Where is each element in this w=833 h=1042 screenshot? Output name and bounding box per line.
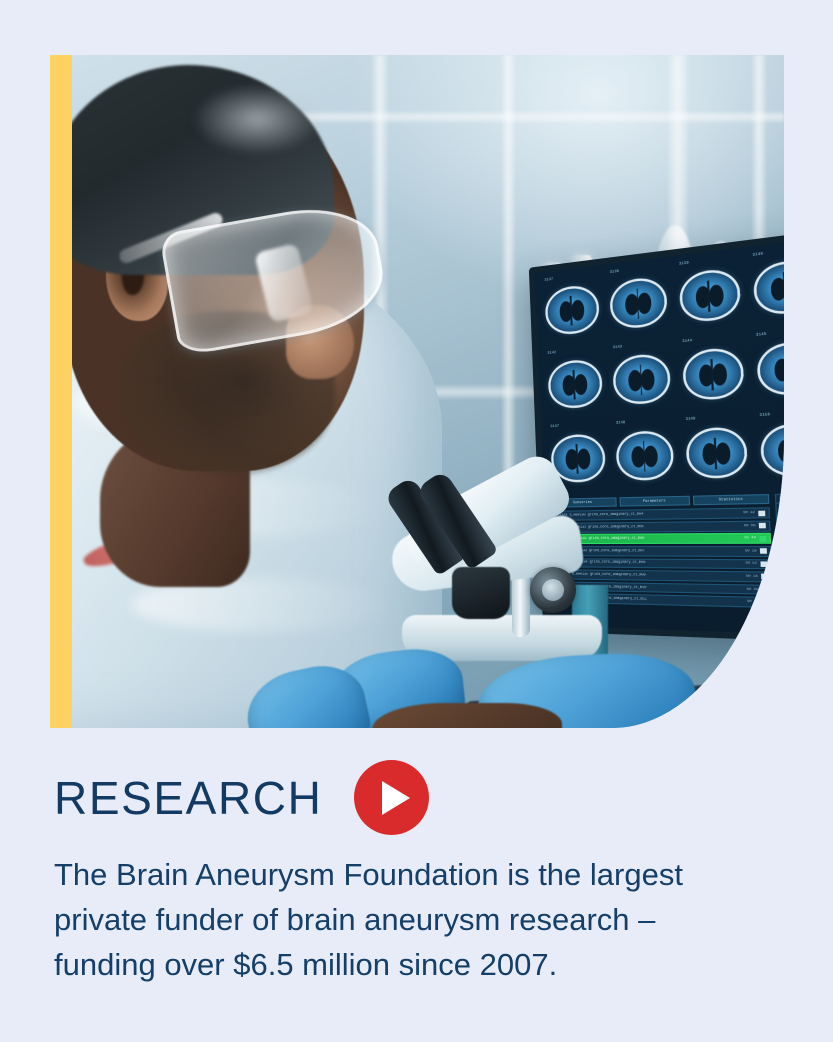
scan-slice-label: 3149	[686, 417, 696, 422]
monitor-tabs: SubseriesParametersStatistics	[549, 494, 769, 508]
series-row-status-swatch	[759, 523, 766, 529]
shelf-row-icon	[302, 111, 784, 123]
brain-scan-cell: 3150	[755, 409, 784, 488]
microscope-objective-lens	[452, 567, 510, 619]
series-row-status-swatch	[761, 574, 768, 580]
series-row-status-swatch	[759, 536, 766, 542]
brain-scan-grid: 3137313831393140314131423143314431453146…	[541, 234, 784, 492]
series-row-status-swatch	[758, 510, 765, 516]
brain-slice-icon	[615, 356, 669, 404]
monitor-tab: Statistics	[693, 494, 769, 505]
brain-slice-icon	[553, 436, 604, 481]
series-row-value: 60 08	[744, 524, 756, 528]
brain-scan-cell: 3137	[541, 271, 604, 346]
brain-slice-icon	[685, 350, 742, 399]
series-row-value: 60 10	[747, 600, 759, 605]
detection-panel: REF 1047.034 Auto SelectionClusterResolu…	[775, 491, 784, 615]
panel-tabs: Auto SelectionClusterResolution	[779, 504, 784, 516]
brain-slice-icon	[681, 270, 738, 321]
series-row-value: 60 36	[747, 587, 759, 592]
series-row-name: Patient s_000131 grind_cord_imaginary_ct…	[554, 524, 740, 530]
scan-slice-label: 3150	[760, 413, 771, 418]
series-row: Patient s_000134 grind_cord_imaginary_ct…	[552, 558, 773, 570]
brain-scan-cell: 3138	[606, 263, 673, 341]
title-row: RESEARCH	[54, 760, 429, 835]
auto-detection-title: Auto Detection	[777, 517, 784, 530]
series-row-status-swatch	[760, 561, 767, 567]
scan-slice-label: 3143	[613, 345, 623, 350]
series-row-status-swatch	[760, 549, 767, 555]
brain-scan-cell: 3149	[681, 413, 752, 489]
page-title: RESEARCH	[54, 775, 322, 821]
series-row: Patient s_000131 grind_cord_imaginary_ct…	[550, 520, 770, 532]
brain-scan-cell: 3143	[609, 340, 676, 416]
brain-slice-icon	[550, 361, 601, 407]
scan-slice-label: 3145	[756, 333, 767, 339]
series-row-name: Patient s_000130 grind_cord_imaginary_ct…	[554, 511, 740, 518]
brain-scan-cell: 3142	[544, 346, 607, 419]
series-id: REF 1047.034	[780, 496, 784, 501]
monitor-tab: Parameters	[619, 496, 690, 507]
body-paragraph: The Brain Aneurysm Foundation is the lar…	[54, 852, 754, 987]
field-oversampling: Phase oversampling 50%	[780, 593, 784, 604]
brain-slice-icon	[688, 429, 745, 477]
series-row-value: 60 18	[745, 549, 757, 553]
brain-scan-cell: 3148	[612, 417, 679, 491]
scan-slice-label: 3142	[547, 351, 556, 356]
series-row: Patient s_000130 grind_cord_imaginary_ct…	[550, 507, 770, 520]
scan-slice-label: 3138	[610, 270, 620, 276]
hair-highlight	[192, 83, 322, 155]
scan-slice-label: 3140	[753, 252, 764, 258]
scan-slice-label: 3147	[550, 425, 559, 430]
series-row-status-swatch	[762, 587, 769, 593]
panel-header: REF 1047.034	[776, 492, 784, 504]
brain-scan-cell: 3140	[748, 244, 784, 327]
series-row: Patient s_000133 grind_cord_imaginary_ct…	[551, 546, 771, 557]
series-row-value: 60 18	[746, 574, 758, 579]
series-row-name: Patient s_000134 grind_cord_imaginary_ct…	[556, 561, 743, 567]
option-enhanced: Enhanced	[778, 538, 784, 547]
scan-slice-label: 3148	[616, 421, 626, 426]
media-block: 3137313831393140314131423143314431453146…	[50, 55, 784, 728]
brain-scan-cell: 3144	[678, 333, 749, 411]
play-video-button[interactable]	[354, 760, 429, 835]
series-row-value: 60 32	[743, 511, 755, 516]
series-row-name: Patient s_000132 grind_cord_imaginary_ct…	[555, 536, 741, 541]
microscope-focus-knob-center	[542, 579, 564, 601]
series-row-status-swatch	[762, 600, 769, 606]
scan-slice-label: 3139	[679, 261, 689, 267]
play-icon	[382, 781, 410, 815]
option-general: General	[778, 529, 784, 539]
brain-slice-icon	[547, 286, 597, 334]
scan-slice-label: 3137	[544, 278, 553, 283]
brain-slice-icon	[612, 279, 666, 328]
monitor-tab: Auto Selection	[779, 506, 784, 517]
series-row-name: Patient s_000135 grind_cord_imaginary_ct…	[556, 572, 743, 579]
brain-scan-cell: 3139	[675, 254, 746, 334]
brain-slice-icon	[755, 261, 784, 314]
brain-scan-cell: 3145	[751, 327, 784, 408]
brain-slice-icon	[759, 343, 784, 394]
scan-slice-label: 3144	[682, 339, 692, 345]
series-row-value: 61 44	[744, 536, 756, 540]
brain-slice-icon	[762, 425, 784, 474]
series-row-name: Patient s_000133 grind_cord_imaginary_ct…	[555, 549, 741, 554]
series-row-value: 60 52	[745, 562, 757, 566]
yellow-accent-bar	[50, 55, 72, 728]
photo-backdrop: 3137313831393140314131423143314431453146…	[72, 55, 784, 728]
research-photo: 3137313831393140314131423143314431453146…	[72, 55, 784, 728]
brain-slice-icon	[618, 433, 672, 479]
series-row: Patient s_000135 grind_cord_imaginary_ct…	[552, 569, 773, 582]
series-row: Patient s_000132 grind_cord_imaginary_ct…	[551, 533, 771, 544]
